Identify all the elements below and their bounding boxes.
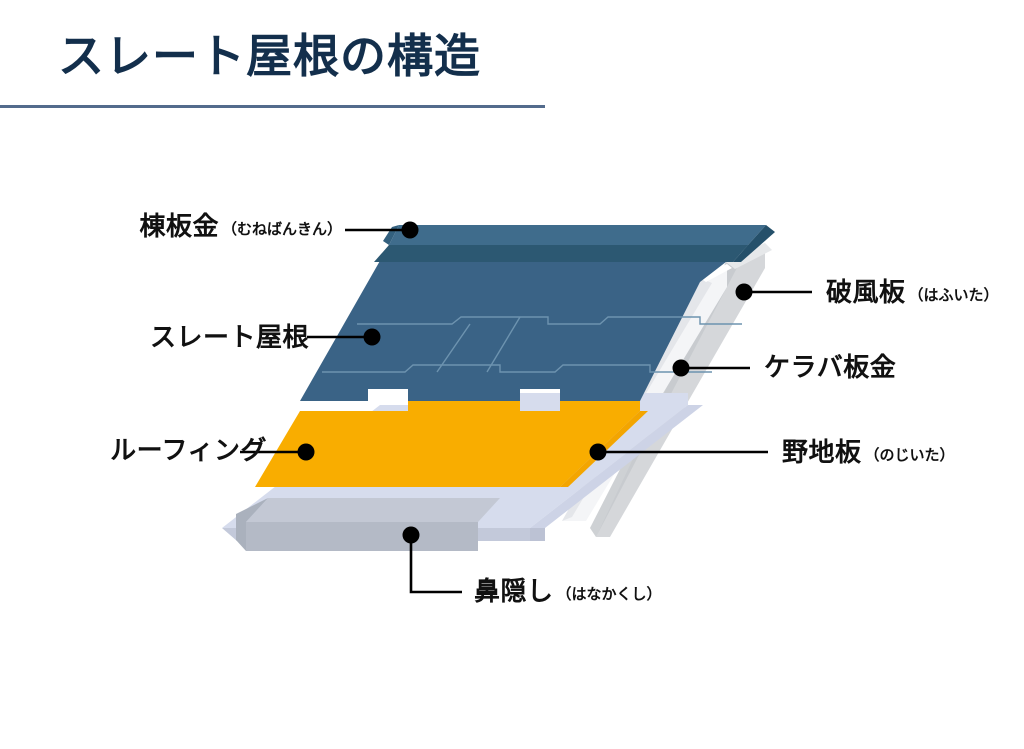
hanakakushi-shape [236, 498, 500, 551]
label-hafuita-kana: （はふいた） [909, 288, 999, 303]
label-hanakakushi-kana: （はなかくし） [557, 587, 662, 602]
label-roofing: ルーフィング [20, 437, 270, 463]
label-munebankin-term: 棟板金 [139, 213, 219, 239]
leader-dot-hanakakushi [403, 527, 420, 544]
label-slate-roof-term: スレート屋根 [150, 324, 309, 350]
leader-dot-nojiita [590, 444, 607, 461]
label-keraba-bankin: ケラバ板金 [764, 354, 899, 380]
label-munebankin: 棟板金 （むねばんきん） [62, 213, 342, 239]
label-nojiita-kana: （のじいた） [865, 448, 955, 463]
label-nojiita: 野地板 （のじいた） [782, 439, 955, 465]
label-hafuita: 破風板 （はふいた） [826, 279, 999, 305]
label-slate-roof: スレート屋根 [52, 324, 312, 350]
leader-dot-keraba [673, 360, 690, 377]
label-keraba-bankin-term: ケラバ板金 [764, 354, 896, 380]
mune-bankin-shape [374, 225, 775, 262]
label-nojiita-term: 野地板 [782, 439, 862, 465]
label-hanakakushi-term: 鼻隠し [474, 578, 554, 604]
label-roofing-term: ルーフィング [110, 437, 267, 463]
leader-dot-hafuita [736, 284, 753, 301]
label-munebankin-kana: （むねばんきん） [222, 222, 342, 237]
label-hanakakushi: 鼻隠し （はなかくし） [474, 578, 662, 604]
label-hafuita-term: 破風板 [826, 279, 906, 305]
leader-dot-slate [364, 329, 381, 346]
roof-structure-diagram: 棟板金 （むねばんきん） スレート屋根 ルーフィング 破風板 （はふいた） ケラ… [0, 0, 1024, 749]
leader-dot-roofing [298, 444, 315, 461]
leader-dot-munebankin [402, 222, 419, 239]
